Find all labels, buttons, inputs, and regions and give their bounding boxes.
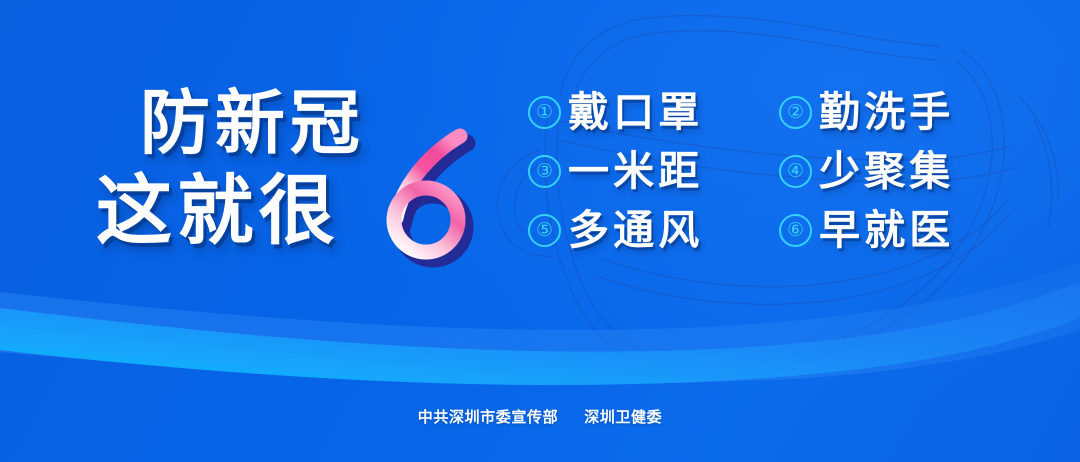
tip-number-icon-5: ⑤ [528,214,561,247]
tip-label-5: 多通风 [568,210,703,251]
footer-org-2: 深圳卫健委 [584,406,662,427]
tip-label-2: 勤洗手 [819,92,954,133]
tip-number-icon-3: ③ [528,155,561,188]
tip-item-6: ⑥ 早就医 [779,210,1012,251]
footer-credits: 中共深圳市委宣传部 深圳卫健委 [0,406,1080,427]
headline-line-1: 防新冠 [140,88,496,158]
tip-item-2: ② 勤洗手 [779,92,1012,133]
tip-label-1: 戴口罩 [568,92,703,133]
footer-org-1: 中共深圳市委宣传部 [418,406,558,427]
tip-item-5: ⑤ 多通风 [528,210,761,251]
tip-label-4: 少聚集 [819,151,954,192]
tip-label-3: 一米距 [568,151,703,192]
tip-item-1: ① 戴口罩 [528,92,761,133]
prevention-tips-grid: ① 戴口罩 ② 勤洗手 ③ 一米距 ④ 少聚集 ⑤ 多通风 ⑥ 早就医 [528,92,1012,251]
tip-item-3: ③ 一米距 [528,151,761,192]
wave-shape-front [0,282,1080,385]
tip-number-icon-2: ② [779,96,812,129]
wave-shape-back [0,262,1080,384]
headline-block: 防新冠 这就很 [96,88,496,250]
headline-line-2: 这就很 [96,174,496,250]
headline-line-2-text: 这就很 [96,174,340,250]
tip-number-icon-6: ⑥ [779,214,812,247]
tip-label-6: 早就医 [819,210,954,251]
tip-number-icon-1: ① [528,96,561,129]
tip-item-4: ④ 少聚集 [779,151,1012,192]
covid-prevention-poster: 防新冠 这就很 ① [0,0,1080,462]
tip-number-icon-4: ④ [779,155,812,188]
